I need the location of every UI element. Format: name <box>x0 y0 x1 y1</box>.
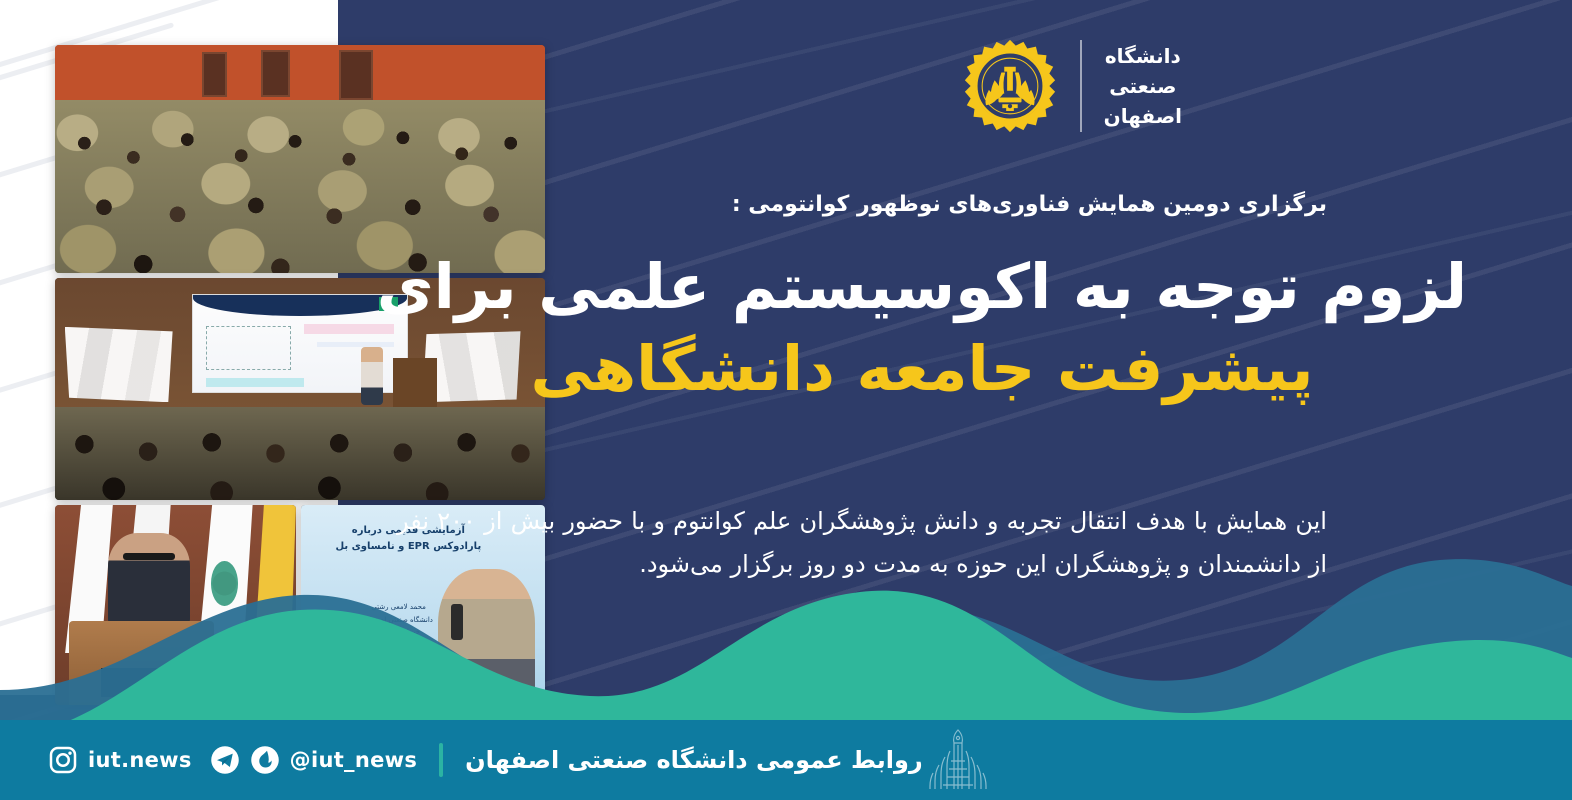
footer-bar: iut.news @iut_news روابط عمومی دانشگاه ص… <box>0 720 1572 800</box>
page-title: لزوم توجه به اکوسیستم علمی برای پیشرفت ج… <box>372 248 1472 408</box>
auditorium-door <box>261 50 290 98</box>
chehel-sotoun-landmark-icon <box>923 727 993 793</box>
instagram-handle[interactable]: iut.news <box>88 748 192 772</box>
slide-diagram <box>206 326 291 370</box>
photo-audience: نمای سالن همایش و حضار نشسته روی صندلی‌ه… <box>55 45 545 273</box>
auditorium-door <box>202 52 227 98</box>
poster-canvas: نمای سالن همایش و حضار نشسته روی صندلی‌ه… <box>0 0 1572 800</box>
flags-left <box>65 327 173 402</box>
university-name: دانشگاه صنعتی اصفهان <box>1104 41 1182 131</box>
social-instagram[interactable]: iut.news <box>48 745 192 775</box>
university-name-line1: دانشگاه <box>1104 41 1182 71</box>
instagram-icon[interactable] <box>48 745 78 775</box>
university-name-line2: صنعتی <box>1104 71 1182 101</box>
social-messengers[interactable]: @iut_news <box>210 745 417 775</box>
headline-line2: پیشرفت جامعه دانشگاهی <box>372 330 1472 408</box>
university-logo-lockup: دانشگاه صنعتی اصفهان <box>962 38 1182 134</box>
university-emblem-icon <box>962 38 1058 134</box>
event-kicker: برگزاری دومین همایش فناوری‌های نوظهور کو… <box>732 192 1327 217</box>
messenger-handle[interactable]: @iut_news <box>290 748 417 772</box>
photo-audience-render <box>55 45 545 273</box>
slide-equation <box>206 378 304 387</box>
university-name-line3: اصفهان <box>1104 101 1182 131</box>
logo-divider <box>1080 40 1082 132</box>
footer-divider <box>439 743 443 777</box>
headline-line1: لزوم توجه به اکوسیستم علمی برای <box>372 248 1472 326</box>
seated-audience <box>55 407 545 500</box>
footer-content: iut.news @iut_news روابط عمومی دانشگاه ص… <box>0 727 999 793</box>
telegram-icon[interactable] <box>210 745 240 775</box>
auditorium-door <box>339 50 373 100</box>
public-relations-label: روابط عمومی دانشگاه صنعتی اصفهان <box>465 746 923 774</box>
bale-icon[interactable] <box>250 745 280 775</box>
